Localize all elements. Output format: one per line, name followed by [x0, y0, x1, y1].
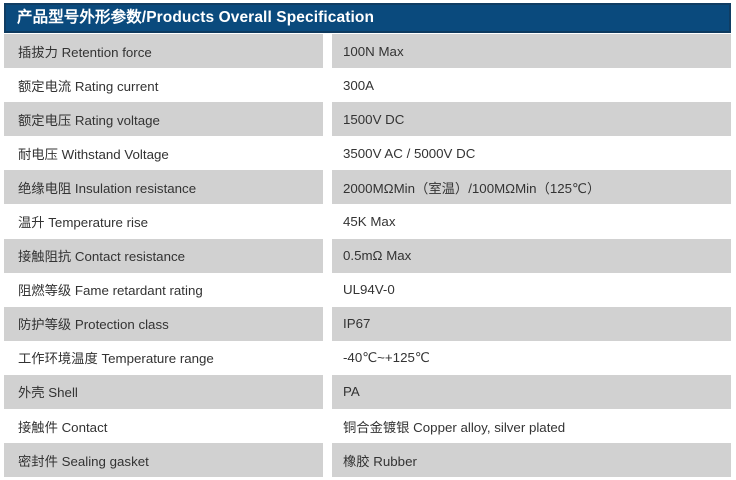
- table-row: 接触件 Contact铜合金镀银 Copper alloy, silver pl…: [4, 409, 731, 443]
- table-header-bar: 产品型号外形参数/Products Overall Specification: [4, 3, 731, 33]
- table-row: 阻燃等级 Fame retardant ratingUL94V-0: [4, 273, 731, 307]
- spec-parameter-value: 橡胶 Rubber: [332, 443, 731, 477]
- spec-parameter-label: 插拔力 Retention force: [4, 34, 323, 68]
- spec-parameter-label: 温升 Temperature rise: [4, 204, 323, 238]
- spec-parameter-label: 绝缘电阻 Insulation resistance: [4, 170, 323, 204]
- spec-parameter-value: -40℃~+125℃: [332, 341, 731, 375]
- spec-parameter-label: 额定电流 Rating current: [4, 68, 323, 102]
- spec-parameter-label: 工作环境温度 Temperature range: [4, 341, 323, 375]
- table-row: 工作环境温度 Temperature range-40℃~+125℃: [4, 341, 731, 375]
- table-row: 耐电压 Withstand Voltage3500V AC / 5000V DC: [4, 136, 731, 170]
- spec-parameter-label: 额定电压 Rating voltage: [4, 102, 323, 136]
- column-divider: [323, 102, 332, 136]
- spec-parameter-label: 接触件 Contact: [4, 409, 323, 443]
- spec-parameter-value: 3500V AC / 5000V DC: [332, 136, 731, 170]
- table-row: 插拔力 Retention force100N Max: [4, 34, 731, 68]
- column-divider: [323, 307, 332, 341]
- column-divider: [323, 341, 332, 375]
- table-row: 接触阻抗 Contact resistance0.5mΩ Max: [4, 239, 731, 273]
- table-row: 防护等级 Protection classIP67: [4, 307, 731, 341]
- column-divider: [323, 443, 332, 477]
- page-title: 产品型号外形参数/Products Overall Specification: [6, 10, 374, 26]
- products-overall-specification-table: 产品型号外形参数/Products Overall Specification …: [0, 0, 736, 480]
- column-divider: [323, 409, 332, 443]
- spec-parameter-label: 阻燃等级 Fame retardant rating: [4, 273, 323, 307]
- table-row: 绝缘电阻 Insulation resistance2000MΩMin（室温）/…: [4, 170, 731, 204]
- spec-parameter-value: 1500V DC: [332, 102, 731, 136]
- table-row: 温升 Temperature rise45K Max: [4, 204, 731, 238]
- column-divider: [323, 273, 332, 307]
- spec-parameter-label: 接触阻抗 Contact resistance: [4, 239, 323, 273]
- spec-parameter-value: 45K Max: [332, 204, 731, 238]
- table-body: 插拔力 Retention force100N Max额定电流 Rating c…: [4, 34, 731, 477]
- spec-parameter-value: 0.5mΩ Max: [332, 239, 731, 273]
- table-row: 额定电流 Rating current300A: [4, 68, 731, 102]
- spec-parameter-label: 外壳 Shell: [4, 375, 323, 409]
- spec-parameter-value: 300A: [332, 68, 731, 102]
- column-divider: [323, 68, 332, 102]
- spec-parameter-label: 密封件 Sealing gasket: [4, 443, 323, 477]
- spec-parameter-label: 耐电压 Withstand Voltage: [4, 136, 323, 170]
- column-divider: [323, 375, 332, 409]
- spec-parameter-value: 2000MΩMin（室温）/100MΩMin（125℃）: [332, 170, 731, 204]
- spec-parameter-value: 铜合金镀银 Copper alloy, silver plated: [332, 409, 731, 443]
- table-row: 额定电压 Rating voltage1500V DC: [4, 102, 731, 136]
- column-divider: [323, 136, 332, 170]
- spec-parameter-value: IP67: [332, 307, 731, 341]
- column-divider: [323, 239, 332, 273]
- spec-parameter-label: 防护等级 Protection class: [4, 307, 323, 341]
- spec-parameter-value: PA: [332, 375, 731, 409]
- column-divider: [323, 170, 332, 204]
- table-row: 密封件 Sealing gasket橡胶 Rubber: [4, 443, 731, 477]
- column-divider: [323, 204, 332, 238]
- column-divider: [323, 34, 332, 68]
- spec-parameter-value: 100N Max: [332, 34, 731, 68]
- table-row: 外壳 ShellPA: [4, 375, 731, 409]
- spec-parameter-value: UL94V-0: [332, 273, 731, 307]
